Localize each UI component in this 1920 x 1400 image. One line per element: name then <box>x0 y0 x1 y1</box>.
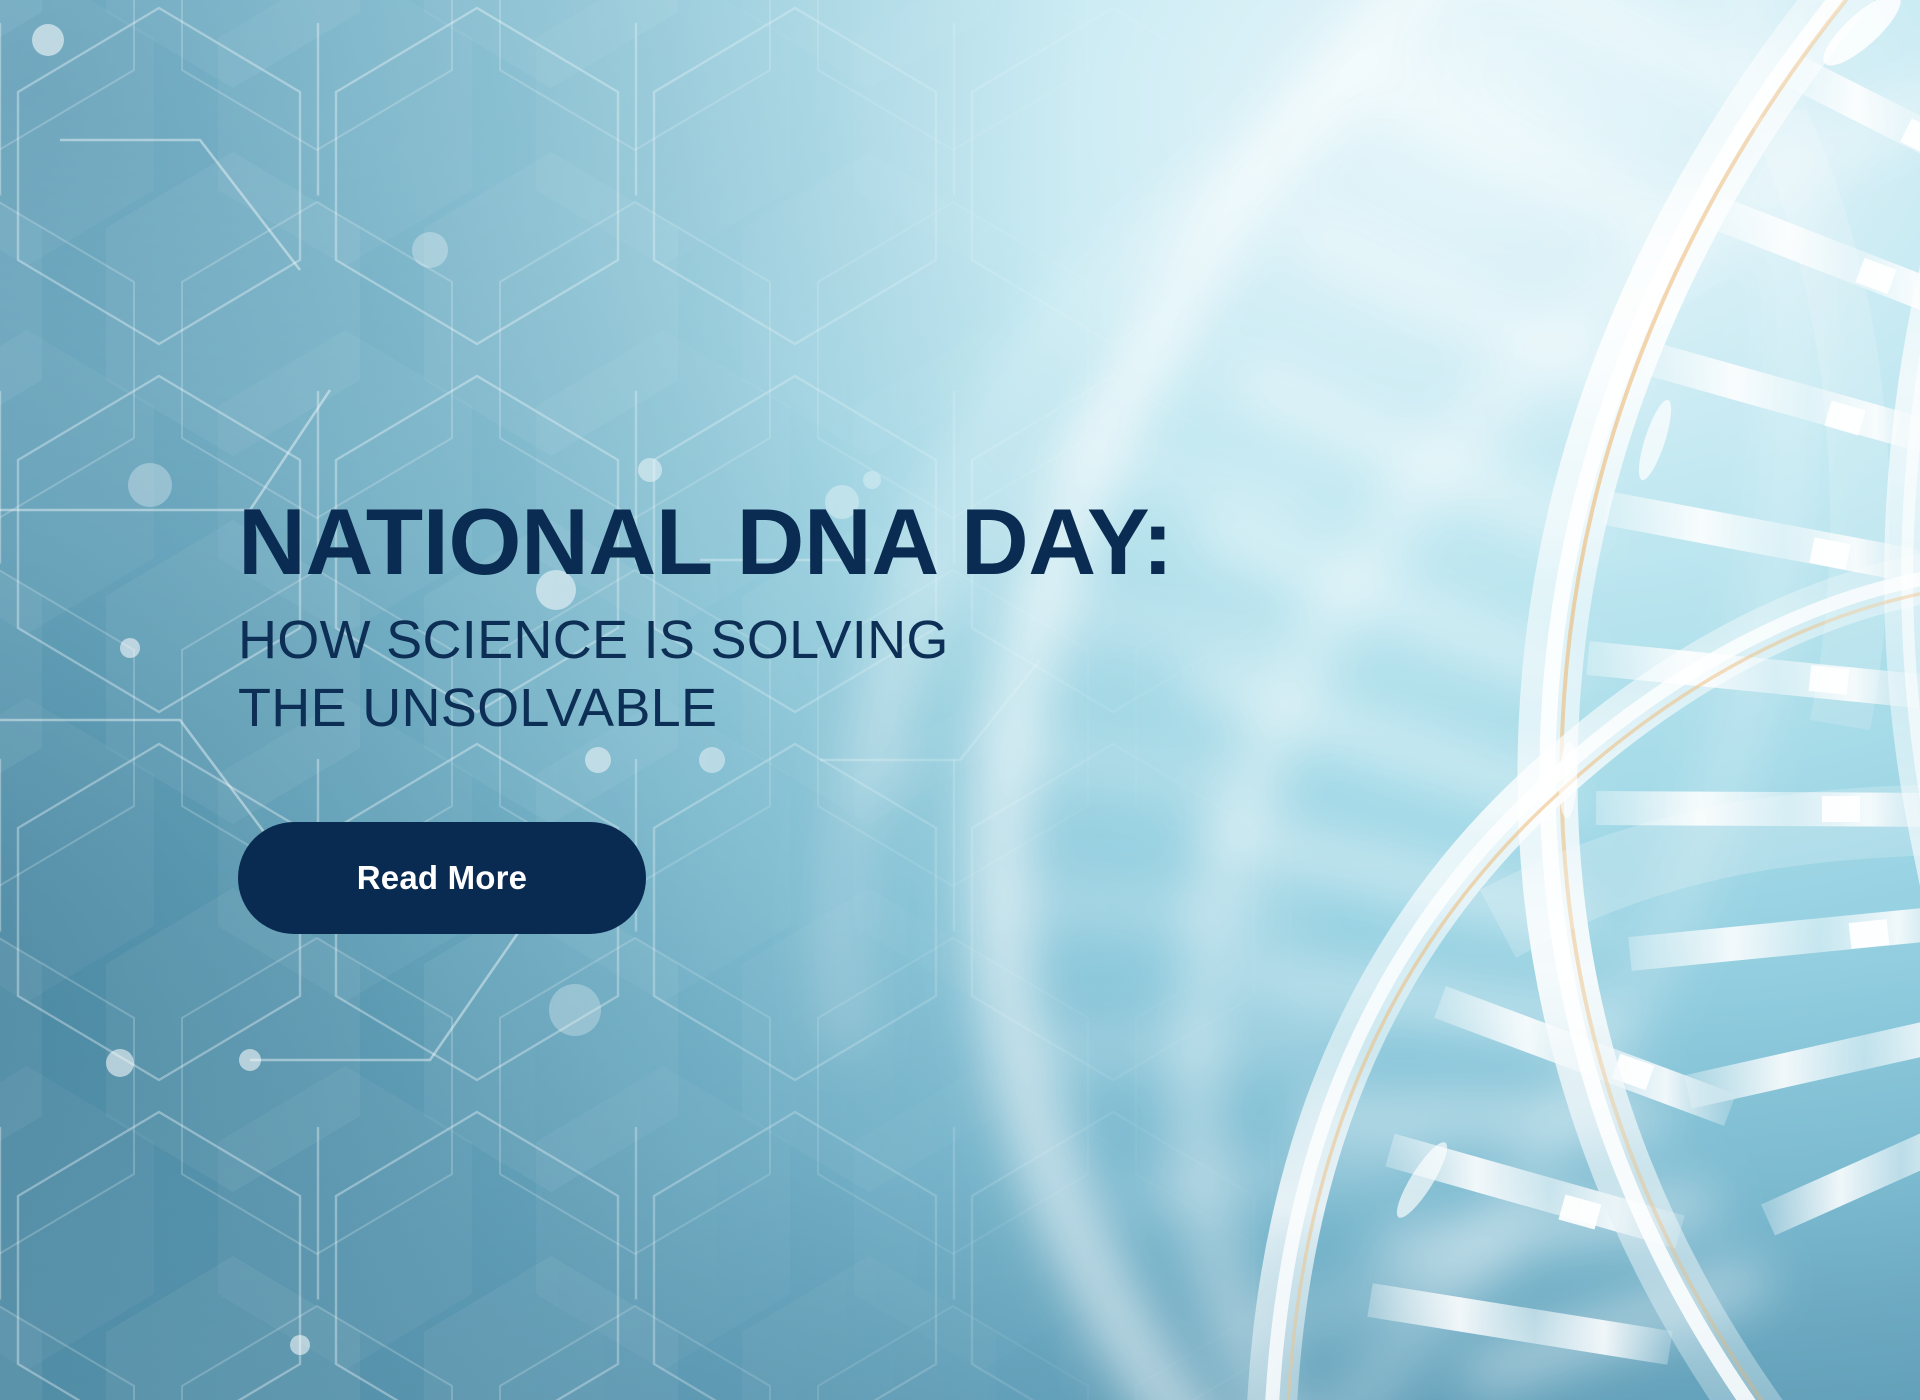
dna-day-banner: NATIONAL DNA DAY: HOW SCIENCE IS SOLVING… <box>0 0 1920 1400</box>
read-more-button[interactable]: Read More <box>238 822 646 934</box>
subtitle-line-1: HOW SCIENCE IS SOLVING <box>238 606 1238 674</box>
page-title: NATIONAL DNA DAY: <box>238 496 1238 588</box>
banner-content: NATIONAL DNA DAY: HOW SCIENCE IS SOLVING… <box>238 496 1238 934</box>
page-subtitle: HOW SCIENCE IS SOLVING THE UNSOLVABLE <box>238 606 1238 742</box>
subtitle-line-2: THE UNSOLVABLE <box>238 674 1238 742</box>
cta-container: Read More <box>238 822 1238 934</box>
